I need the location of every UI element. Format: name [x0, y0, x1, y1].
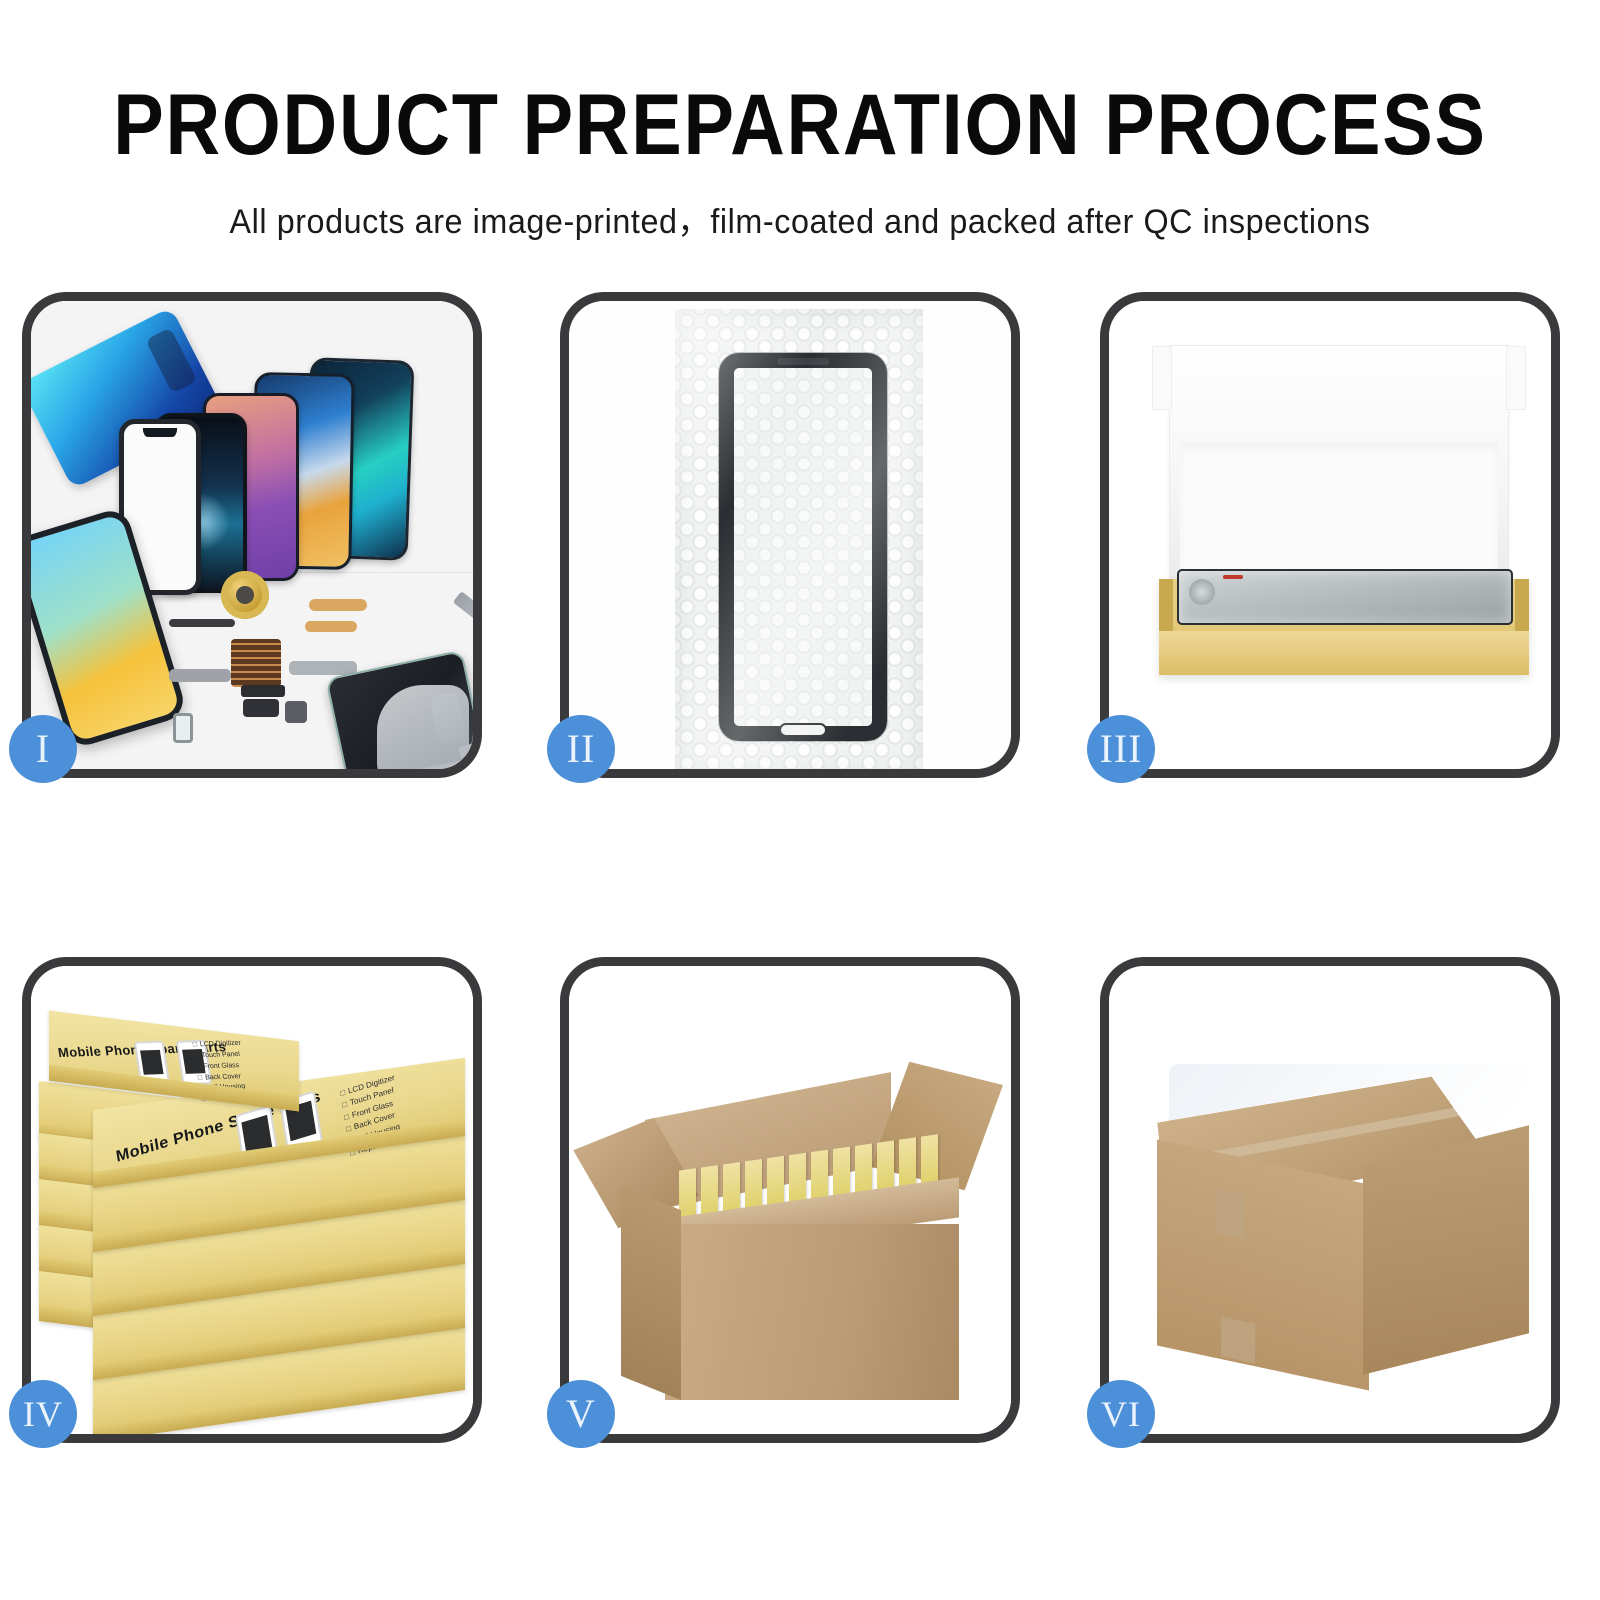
flex-cable-icon — [169, 619, 235, 627]
antenna-flex-icon — [305, 621, 357, 632]
home-button-icon — [779, 723, 827, 737]
power-flex-icon — [289, 661, 357, 675]
page-title: PRODUCT PREPARATION PROCESS — [96, 82, 1504, 168]
process-row-bottom: Mobile Phone Spare Parts LCD Digitizer T… — [0, 957, 1600, 1447]
step-1-image — [31, 301, 473, 769]
box-tray-icon — [1159, 579, 1529, 675]
step-badge-5: V — [547, 1380, 615, 1448]
carton-left-face — [1157, 1139, 1369, 1390]
process-step-3[interactable]: III — [1100, 292, 1560, 778]
step-badge-6: VI — [1087, 1380, 1155, 1448]
antenna-flex-icon — [309, 599, 367, 611]
tape-patch-icon — [1215, 1189, 1245, 1239]
volume-flex-icon — [169, 669, 231, 682]
box-stack-group: Mobile Phone Spare Parts LCD Digitizer T… — [31, 966, 473, 1434]
step-5-image — [569, 966, 1011, 1434]
screen-frame-icon — [719, 353, 887, 741]
carton-side-face — [621, 1186, 681, 1400]
step-numeral: V — [566, 1394, 596, 1434]
carton-body — [665, 1224, 959, 1400]
header: PRODUCT PREPARATION PROCESS All products… — [0, 0, 1600, 243]
red-wire-icon — [1223, 575, 1243, 579]
step-4-image: Mobile Phone Spare Parts LCD Digitizer T… — [31, 966, 473, 1434]
step-3-image — [1109, 301, 1551, 769]
step-badge-4: IV — [9, 1380, 77, 1448]
tray-front-face — [1159, 631, 1529, 675]
product-preparation-process-page: PRODUCT PREPARATION PROCESS All products… — [0, 0, 1600, 1600]
sim-tray-icon — [173, 713, 193, 743]
process-step-2[interactable]: II — [560, 292, 1020, 778]
wireless-coil-icon — [221, 571, 269, 619]
phone-fan-group — [131, 379, 431, 574]
spare-parts-group — [159, 567, 459, 767]
carton-front-face — [665, 1224, 959, 1400]
box-lid-inner — [1180, 442, 1498, 588]
step-badge-3: III — [1087, 715, 1155, 783]
bubble-wrap-sheet — [675, 309, 923, 769]
ic-chip-icon — [231, 639, 281, 687]
step-badge-1: I — [9, 715, 77, 783]
step-2-image — [569, 301, 1011, 769]
box-lid-icon — [1169, 345, 1509, 589]
carton-right-face — [1363, 1125, 1529, 1374]
camera-module-icon — [285, 701, 307, 723]
connector-icon — [241, 685, 285, 697]
earpiece-icon — [777, 358, 829, 365]
step-badge-2: II — [547, 715, 615, 783]
step-numeral: IV — [23, 1396, 63, 1432]
step-numeral: III — [1100, 729, 1143, 769]
process-step-4[interactable]: Mobile Phone Spare Parts LCD Digitizer T… — [22, 957, 482, 1443]
page-subtitle: All products are image-printed，film-coat… — [40, 194, 1560, 243]
step-numeral: VI — [1101, 1396, 1141, 1432]
hand-icon — [377, 685, 469, 769]
speaker-icon — [243, 699, 279, 717]
process-step-1[interactable]: I — [22, 292, 482, 778]
tape-patch-icon — [1221, 1316, 1255, 1363]
process-step-6[interactable]: VI — [1100, 957, 1560, 1443]
wrapped-screen-in-box — [1177, 569, 1513, 625]
step-6-image — [1109, 966, 1551, 1434]
sealed-carton — [1149, 1034, 1529, 1370]
notch-icon — [143, 428, 177, 437]
process-step-5[interactable]: V — [560, 957, 1020, 1443]
process-row-top: I II — [0, 292, 1600, 782]
step-numeral: II — [567, 729, 596, 769]
process-grid: I II — [0, 292, 1600, 1447]
step-numeral: I — [36, 729, 50, 769]
